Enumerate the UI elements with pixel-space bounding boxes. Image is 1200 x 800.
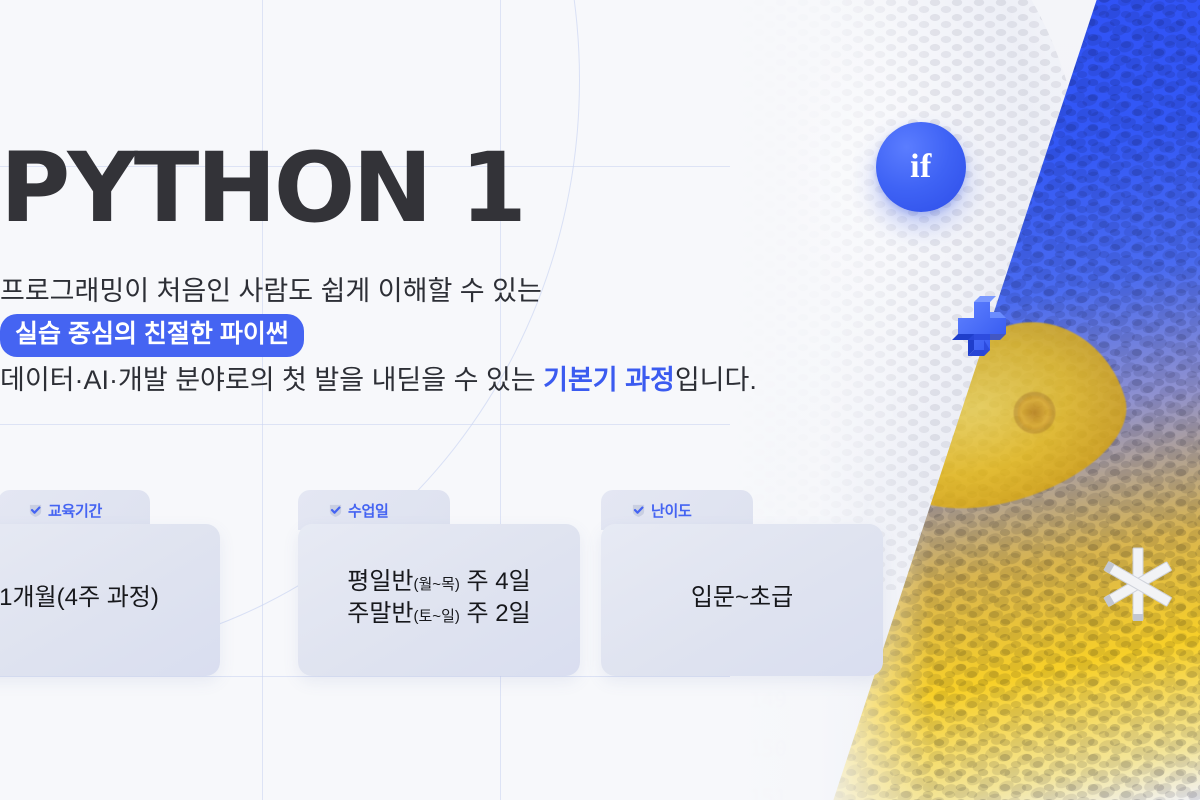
card-value-line: 입문~초급 bbox=[691, 582, 793, 614]
card-body: 입문~초급 bbox=[601, 524, 883, 676]
card-label: 난이도 bbox=[651, 500, 692, 521]
card-value-text: 평일반 bbox=[347, 568, 413, 595]
card-value: 입문~초급 bbox=[691, 582, 793, 618]
hero-content: PYTHON 1 프로그래밍이 처음인 사람도 쉽게 이해할 수 있는 실습 중… bbox=[0, 0, 760, 800]
card-value: 평일반(월~목) 주 4일 주말반(토~일) 주 2일 bbox=[347, 566, 530, 634]
subtitle-line-3-pre: 데이터·AI·개발 분야로의 첫 발을 내딛을 수 있는 bbox=[0, 365, 543, 395]
check-badge-icon bbox=[631, 503, 646, 518]
card-value: 1개월(4주 과정) bbox=[0, 582, 159, 618]
card-label: 수업일 bbox=[348, 500, 389, 521]
if-badge-label: if bbox=[910, 148, 932, 186]
check-badge-icon bbox=[328, 503, 343, 518]
info-card-difficulty: 난이도 입문~초급 bbox=[601, 490, 883, 676]
card-body: 1개월(4주 과정) bbox=[0, 524, 220, 676]
subtitle-line-3: 데이터·AI·개발 분야로의 첫 발을 내딛을 수 있는 기본기 과정입니다. bbox=[0, 361, 760, 399]
plus-3d-icon bbox=[946, 288, 1020, 362]
hero-banner: 135 136 137 138 139 140 141 142 143 144 … bbox=[0, 0, 1200, 800]
course-info-cards: 교육기간 1개월(4주 과정) 수업일 bbox=[0, 490, 898, 690]
card-label: 교육기간 bbox=[48, 500, 102, 521]
if-keyword-badge: if bbox=[876, 122, 966, 212]
info-card-class-days: 수업일 평일반(월~목) 주 4일 주말반(토~일) 주 2일 bbox=[298, 490, 580, 676]
card-value-note: (월~목) bbox=[414, 576, 460, 593]
card-value-text: 주 2일 bbox=[460, 600, 531, 627]
subtitle-line-3-accent: 기본기 과정 bbox=[543, 365, 675, 395]
page-title: PYTHON 1 bbox=[0, 140, 524, 236]
subtitle-line-3-post: 입니다. bbox=[675, 365, 757, 395]
card-value-text: 주 4일 bbox=[460, 568, 531, 595]
subtitle-line-1: 프로그래밍이 처음인 사람도 쉽게 이해할 수 있는 bbox=[0, 272, 760, 310]
card-value-line: 1개월(4주 과정) bbox=[0, 582, 159, 614]
highlight-badge: 실습 중심의 친절한 파이썬 bbox=[0, 314, 304, 357]
asterisk-3d-icon bbox=[1092, 538, 1184, 630]
card-value-line: 주말반(토~일) 주 2일 bbox=[347, 598, 530, 630]
card-value-line: 평일반(월~목) 주 4일 bbox=[347, 566, 530, 598]
check-badge-icon bbox=[28, 503, 43, 518]
card-body: 평일반(월~목) 주 4일 주말반(토~일) 주 2일 bbox=[298, 524, 580, 676]
card-value-note: (토~일) bbox=[414, 608, 460, 625]
highlight-pill-wrapper: 실습 중심의 친절한 파이썬 bbox=[0, 314, 760, 357]
info-card-duration: 교육기간 1개월(4주 과정) bbox=[0, 490, 220, 676]
card-value-text: 주말반 bbox=[347, 600, 413, 627]
hero-subtitle: 프로그래밍이 처음인 사람도 쉽게 이해할 수 있는 실습 중심의 친절한 파이… bbox=[0, 272, 760, 400]
